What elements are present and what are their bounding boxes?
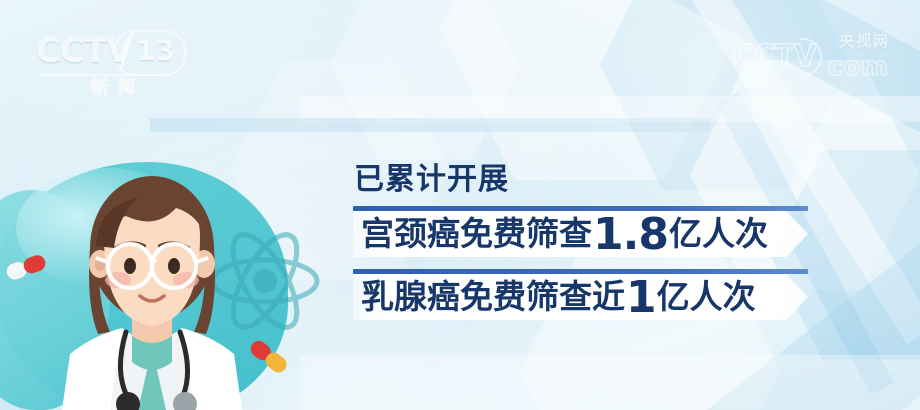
cctv-wordmark: CCTV	[36, 34, 131, 68]
stat-banner-row: 宫颈癌免费筛查1.8亿人次	[353, 206, 808, 260]
banner-text: 宫颈癌免费筛查1.8亿人次	[361, 211, 768, 257]
stat-banner-row: 乳腺癌免费筛查近1亿人次	[353, 269, 808, 323]
banner-text: 乳腺癌免费筛查近1亿人次	[361, 274, 756, 320]
pill-capsule-icon	[246, 340, 292, 374]
stat-figure: 1	[625, 276, 657, 320]
pill-capsule-icon	[4, 252, 50, 282]
stat-prefix: 宫颈癌免费筛查	[361, 211, 592, 257]
stat-suffix: 亿人次	[657, 274, 756, 320]
cctv13-logo: CCTV 13 新闻	[36, 34, 186, 96]
doctor-figure	[52, 176, 252, 410]
broadcast-frame: CCTV 13 新闻 CCTV com 央视网	[0, 0, 920, 410]
stat-suffix: 亿人次	[669, 211, 768, 257]
watermark-cn-text: 央视网	[839, 34, 890, 49]
logo-underline	[38, 74, 164, 76]
stat-figure: 1.8	[592, 213, 669, 257]
headline-text: 已累计开展	[354, 163, 509, 197]
channel-subtitle: 新闻	[58, 78, 178, 98]
watermark-com-text: com	[828, 54, 888, 80]
channel-number: 13	[136, 36, 175, 66]
stat-prefix: 乳腺癌免费筛查近	[361, 274, 625, 320]
